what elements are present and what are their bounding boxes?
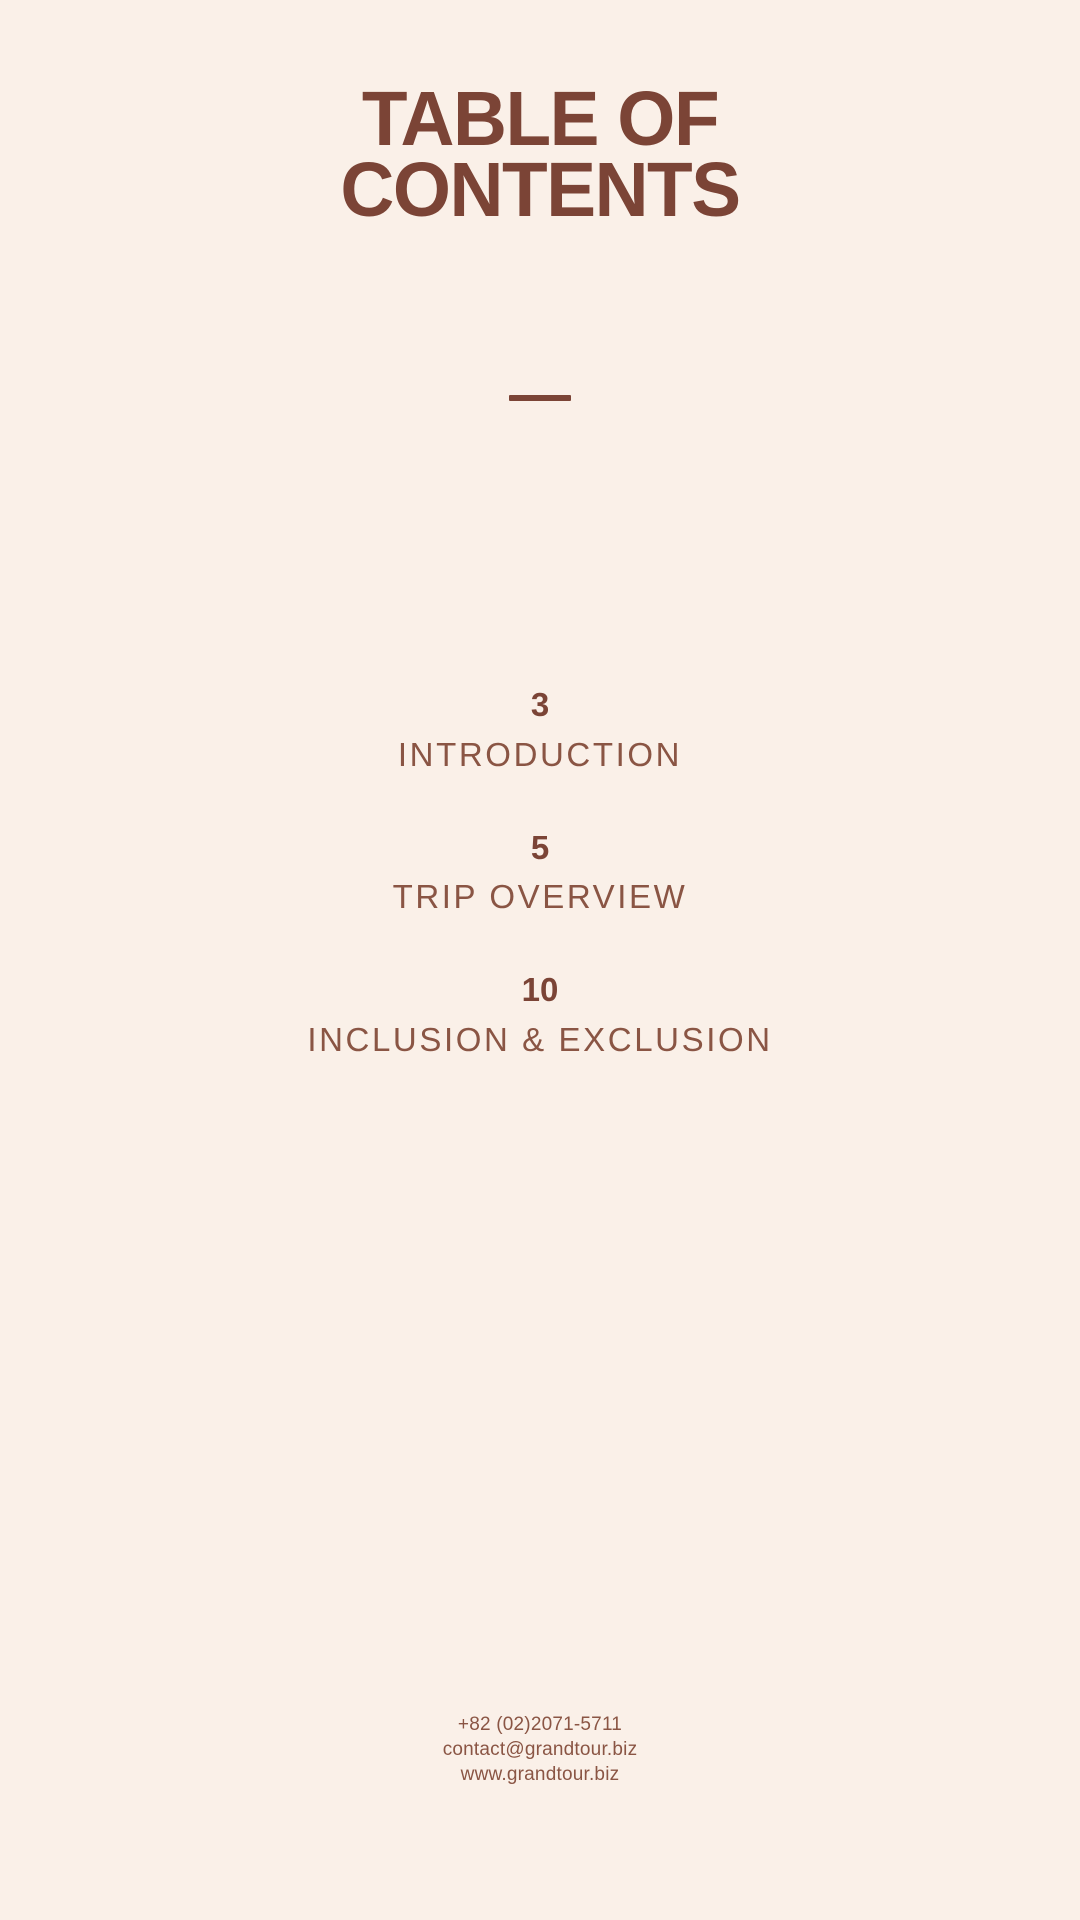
table-of-contents-page: TABLE OF CONTENTS 3 INTRODUCTION 5 TRIP …: [0, 0, 1080, 1920]
page-title: TABLE OF CONTENTS: [0, 84, 1080, 226]
footer-phone[interactable]: +82 (02)2071-5711: [0, 1712, 1080, 1737]
toc-entry-inclusion-exclusion[interactable]: 10 INCLUSION & EXCLUSION: [0, 971, 1080, 1060]
toc-list: 3 INTRODUCTION 5 TRIP OVERVIEW 10 INCLUS…: [0, 686, 1080, 1060]
title-line-1: TABLE OF: [16, 84, 1064, 155]
toc-page-number: 10: [0, 971, 1080, 1009]
footer-website[interactable]: www.grandtour.biz: [0, 1762, 1080, 1787]
title-divider-rule: [509, 395, 571, 401]
toc-section-label: INTRODUCTION: [0, 735, 1080, 775]
toc-entry-trip-overview[interactable]: 5 TRIP OVERVIEW: [0, 829, 1080, 918]
footer-contact-block: +82 (02)2071-5711 contact@grandtour.biz …: [0, 1712, 1080, 1787]
title-line-2: CONTENTS: [16, 155, 1064, 226]
toc-entry-introduction[interactable]: 3 INTRODUCTION: [0, 686, 1080, 775]
footer-email[interactable]: contact@grandtour.biz: [0, 1737, 1080, 1762]
toc-page-number: 3: [0, 686, 1080, 724]
toc-page-number: 5: [0, 829, 1080, 867]
title-heading: TABLE OF CONTENTS: [16, 84, 1064, 226]
toc-section-label: TRIP OVERVIEW: [0, 877, 1080, 917]
toc-section-label: INCLUSION & EXCLUSION: [0, 1020, 1080, 1060]
